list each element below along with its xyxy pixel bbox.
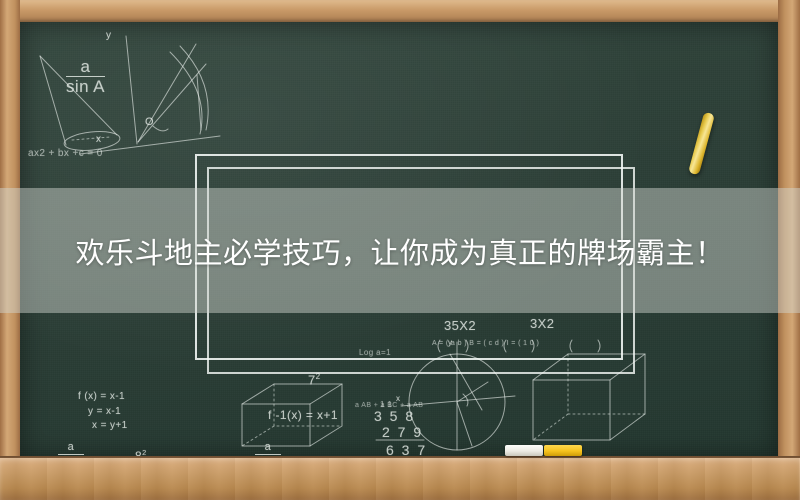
chalk-power-seven: 72 bbox=[308, 372, 321, 387]
chalk-inverse-function: f -1(x) = x+1 bbox=[268, 408, 338, 422]
chalk-axis-x-bottomright: x bbox=[396, 394, 400, 403]
page-title: 欢乐斗地主必学技巧，让你成为真正的牌场霸主！ bbox=[75, 230, 724, 272]
chalk-quadratic-equation: ax2 + bx +c = 0 bbox=[28, 148, 103, 159]
power-base: 7 bbox=[308, 372, 316, 387]
frame-bottom-ledge bbox=[0, 458, 800, 500]
chalk-axis-y-topleft: y bbox=[106, 30, 111, 41]
chalk-angle-label: O bbox=[145, 116, 154, 128]
addition-addend-2: 2 7 9 bbox=[374, 424, 427, 440]
addition-addend-1: 3 5 8 bbox=[374, 408, 427, 424]
chalk-function-line-1: f (x) = x-1 bbox=[78, 390, 128, 405]
chalk-function-line-2: y = x-1 bbox=[78, 405, 128, 420]
white-chalk-eraser-icon bbox=[505, 445, 543, 456]
title-banner-overlay: 欢乐斗地主必学技巧，让你成为真正的牌场霸主！ bbox=[0, 188, 800, 313]
fraction-numerator: a bbox=[58, 442, 84, 454]
chalk-addition-column: 3 5 8 2 7 9 6 3 7 bbox=[374, 408, 427, 458]
yellow-chalk-piece-icon bbox=[544, 445, 582, 456]
frame-top-rail bbox=[0, 0, 800, 22]
chalk-fraction-a-sin-a-topleft: a sin A bbox=[66, 58, 105, 96]
fraction-numerator: a bbox=[255, 442, 281, 454]
fraction-numerator: a bbox=[66, 58, 105, 76]
chalkboard-scene: a sin A y x O ax2 + bx +c = 0 f (x) = x-… bbox=[0, 0, 800, 500]
chalk-axis-x-topleft: x bbox=[96, 134, 101, 145]
fraction-denominator: sin A bbox=[66, 76, 105, 96]
chalk-function-lines: f (x) = x-1 y = x-1 x = y+1 bbox=[78, 390, 128, 434]
chalk-function-line-3: x = y+1 bbox=[78, 419, 128, 434]
